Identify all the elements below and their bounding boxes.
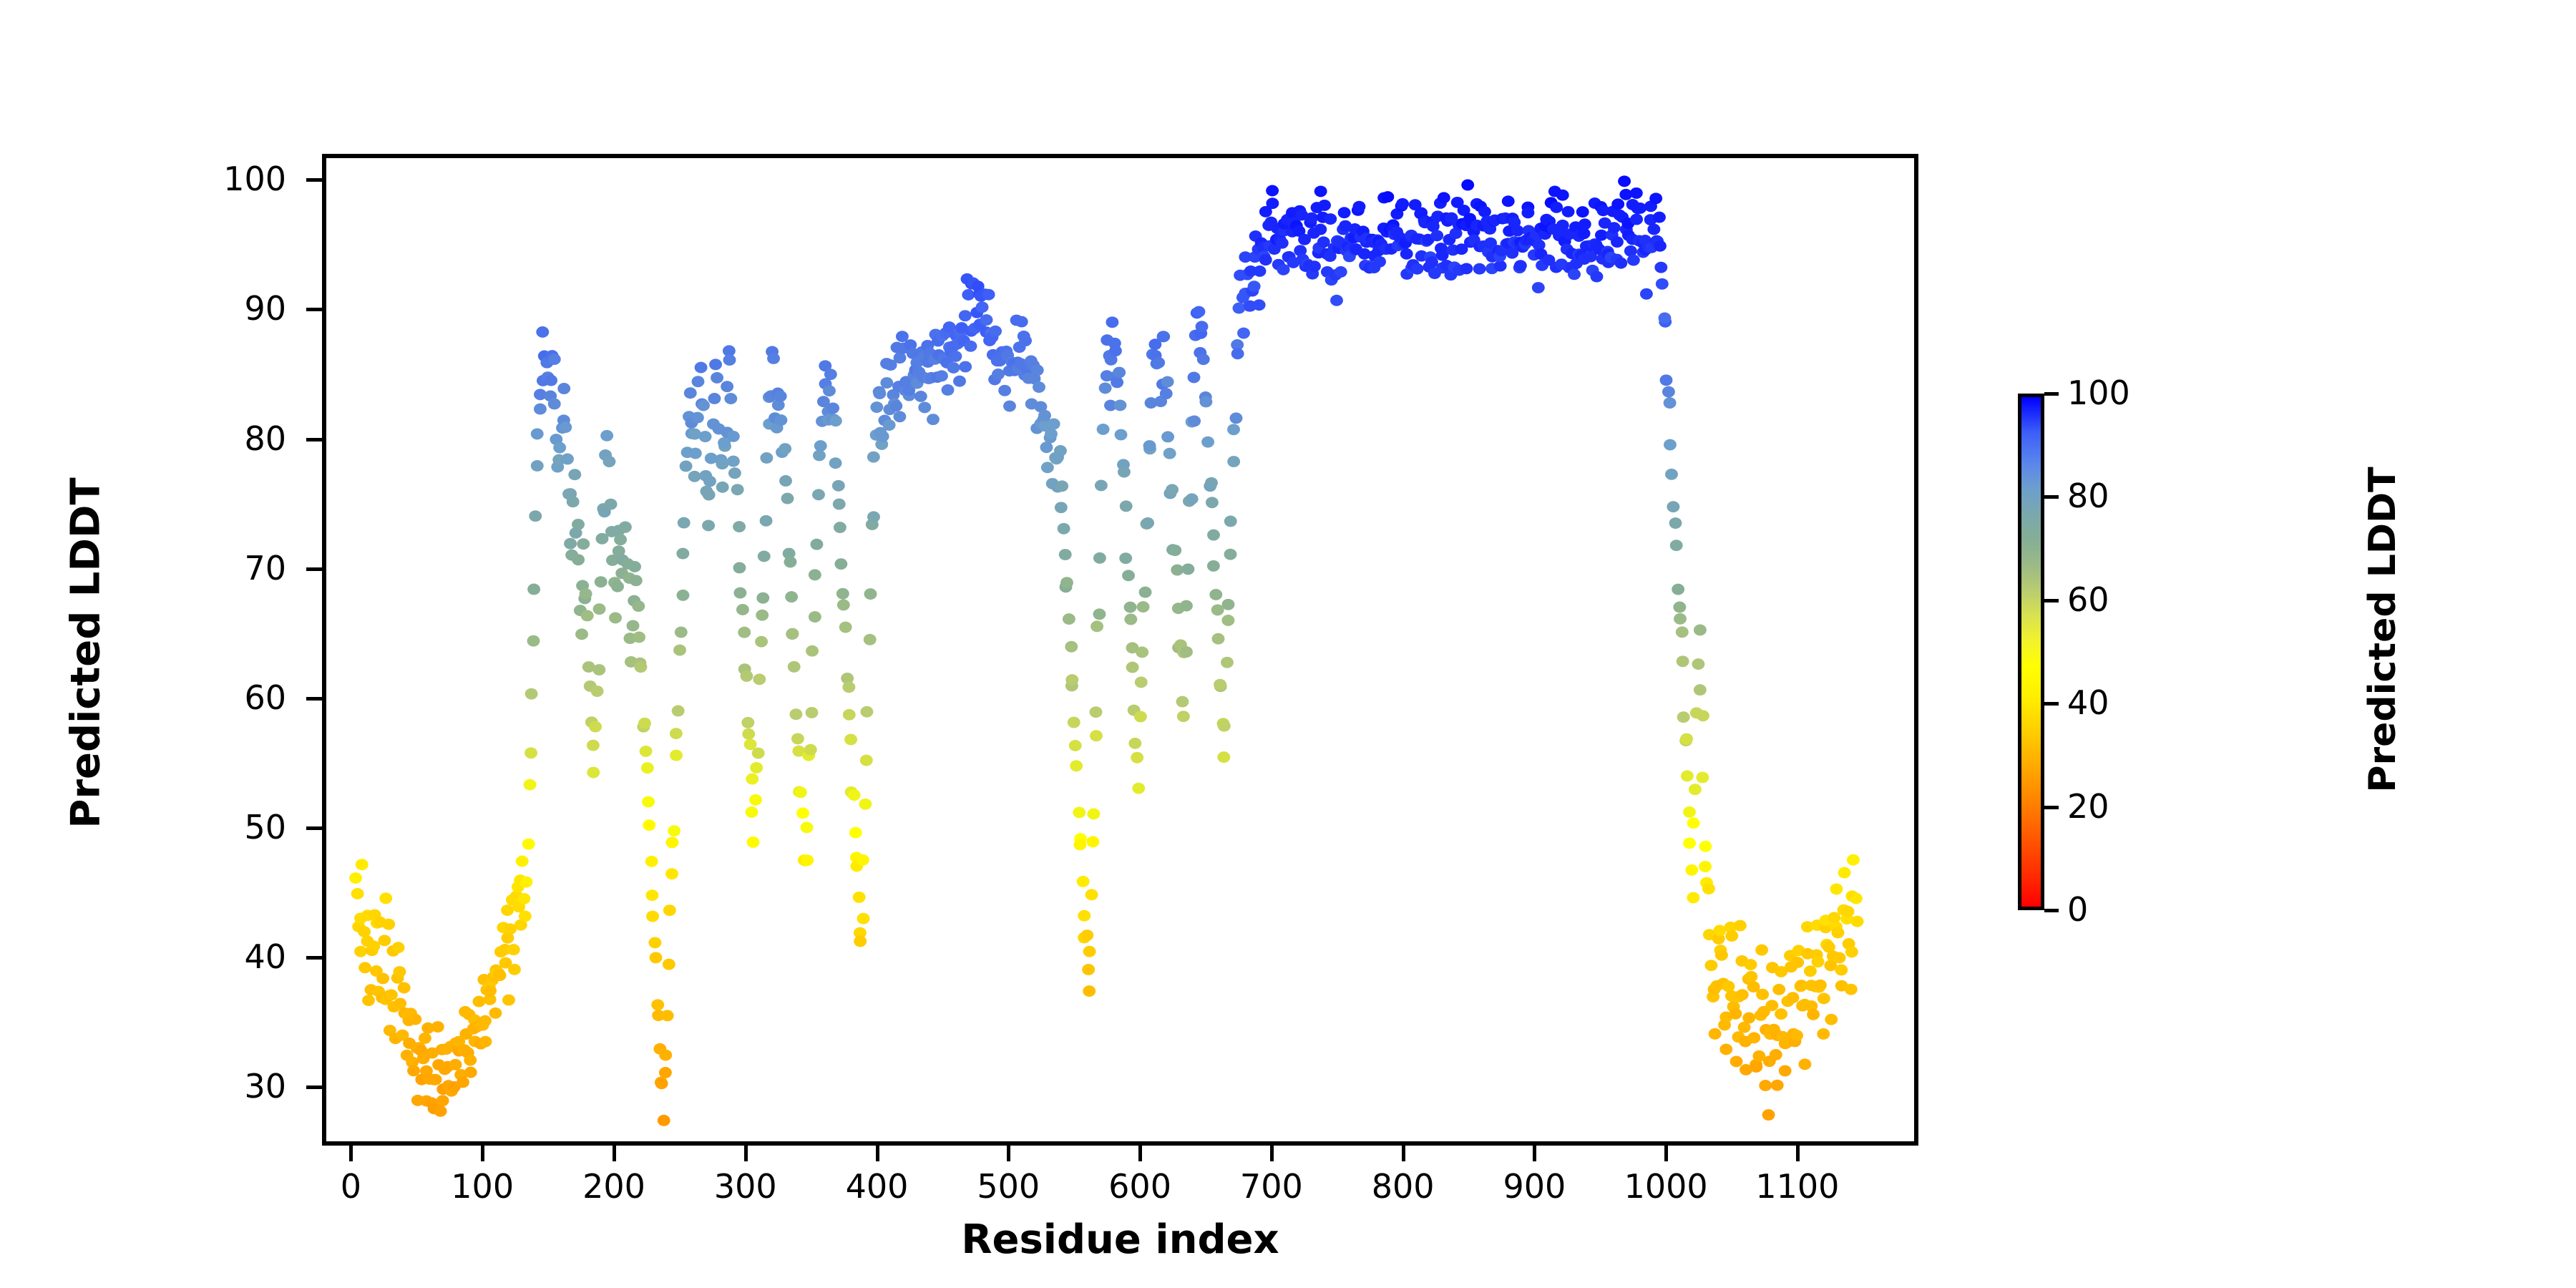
scatter-point — [1180, 646, 1193, 658]
scatter-point — [1775, 1008, 1787, 1020]
scatter-point — [1722, 981, 1735, 992]
scatter-point — [753, 673, 766, 685]
scatter-point — [1772, 984, 1785, 995]
scatter-point — [592, 664, 605, 675]
scatter-point — [810, 539, 823, 550]
scatter-point — [501, 904, 514, 916]
scatter-point — [1188, 415, 1201, 426]
scatter-point — [733, 587, 746, 599]
scatter-point — [796, 807, 809, 819]
scatter-point — [756, 610, 769, 621]
scatter-point — [1227, 456, 1240, 467]
scatter-point — [1231, 348, 1244, 359]
scatter-point — [1152, 357, 1165, 369]
scatter-point — [1817, 1028, 1830, 1040]
scatter-point — [733, 521, 746, 532]
scatter-point — [1353, 201, 1366, 213]
scatter-point — [1685, 864, 1698, 876]
scatter-point — [1090, 706, 1103, 718]
scatter-point — [1461, 180, 1474, 191]
scatter-point — [1230, 412, 1243, 424]
scatter-point — [947, 362, 960, 374]
scatter-point — [789, 708, 802, 720]
scatter-point — [1126, 662, 1139, 673]
scatter-point — [1120, 500, 1133, 512]
scatter-point — [1276, 238, 1289, 249]
scatter-point — [1222, 599, 1235, 610]
scatter-point — [1248, 280, 1261, 292]
scatter-point — [1729, 1008, 1742, 1020]
scatter-point — [1317, 236, 1330, 248]
scatter-point — [784, 556, 797, 567]
scatter-point — [814, 440, 827, 452]
colorbar-tick-label: 80 — [2067, 479, 2109, 512]
scatter-point — [354, 946, 367, 957]
scatter-point — [663, 904, 676, 916]
scatter-point — [1556, 190, 1569, 201]
scatter-point — [1160, 388, 1173, 399]
scatter-point — [527, 584, 540, 595]
scatter-point — [457, 1076, 469, 1088]
scatter-point — [857, 854, 869, 866]
scatter-point — [1478, 206, 1491, 218]
scatter-point — [1759, 1080, 1772, 1091]
scatter-point — [842, 681, 855, 693]
scatter-point — [1579, 218, 1591, 230]
colorbar-tick-mark — [2044, 702, 2059, 706]
scatter-point — [1131, 752, 1143, 763]
scatter-point — [864, 634, 877, 645]
scatter-point — [1719, 1044, 1732, 1055]
scatter-point — [794, 786, 807, 798]
scatter-point — [1845, 946, 1858, 957]
scatter-point — [1670, 540, 1683, 551]
scatter-point — [880, 377, 893, 389]
y-tick-label: 30 — [136, 1070, 286, 1103]
scatter-point — [1608, 222, 1621, 233]
scatter-point — [1521, 207, 1534, 218]
scatter-point — [1734, 920, 1747, 932]
scatter-point — [1511, 225, 1524, 237]
scatter-point — [531, 428, 544, 439]
scatter-point — [1804, 965, 1817, 977]
scatter-point — [591, 686, 604, 697]
scatter-point — [663, 959, 675, 970]
scatter-point — [982, 289, 995, 301]
scatter-point — [479, 1015, 492, 1027]
scatter-point — [824, 369, 837, 380]
scatter-point — [593, 603, 606, 615]
scatter-point — [548, 353, 561, 365]
colorbar-tick-label: 100 — [2067, 376, 2130, 409]
scatter-point — [516, 856, 529, 867]
scatter-point — [1083, 985, 1096, 997]
scatter-point — [1338, 207, 1351, 218]
scatter-point — [758, 551, 771, 562]
scatter-point — [823, 385, 836, 396]
scatter-point — [755, 636, 768, 648]
scatter-point — [517, 893, 530, 904]
colorbar-tick-label: 40 — [2067, 686, 2109, 719]
x-tick-mark — [1007, 1146, 1010, 1161]
x-tick-mark — [1402, 1146, 1405, 1161]
scatter-point — [893, 411, 906, 422]
scatter-point — [1630, 214, 1643, 225]
scatter-point — [1676, 626, 1689, 638]
scatter-point — [678, 517, 691, 529]
scatter-point — [767, 353, 780, 364]
scatter-point — [699, 431, 712, 442]
scatter-point — [614, 534, 627, 545]
scatter-point — [1562, 206, 1575, 218]
scatter-point — [1070, 760, 1083, 771]
scatter-point — [564, 538, 577, 550]
scatter-point — [1630, 187, 1643, 199]
scatter-point — [774, 391, 787, 402]
scatter-point — [1113, 400, 1126, 411]
scatter-point — [1078, 910, 1091, 922]
scatter-point — [962, 289, 975, 301]
scatter-point — [1674, 613, 1687, 625]
scatter-point — [553, 442, 566, 454]
scatter-point — [1725, 930, 1738, 942]
scatter-point — [1702, 883, 1715, 894]
scatter-point — [736, 604, 749, 615]
scatter-point — [1750, 1061, 1762, 1073]
scatter-point — [1640, 288, 1653, 300]
scatter-point — [676, 548, 689, 560]
scatter-point — [746, 774, 758, 785]
scatter-point — [1083, 946, 1096, 957]
scatter-point — [788, 661, 801, 673]
scatter-point — [992, 369, 1005, 380]
scatter-point — [1065, 641, 1078, 653]
scatter-point — [1830, 883, 1843, 894]
y-tick-mark — [306, 567, 322, 571]
y-tick-label: 100 — [136, 162, 286, 195]
scatter-point — [650, 952, 663, 963]
scatter-point — [559, 421, 572, 433]
scatter-point — [1214, 679, 1226, 691]
scatter-point — [867, 452, 880, 463]
scatter-point — [826, 402, 839, 414]
scatter-point — [1040, 441, 1053, 453]
scatter-point — [684, 387, 697, 399]
scatter-point — [809, 569, 821, 580]
scatter-point — [1090, 730, 1103, 741]
scatter-point — [1687, 892, 1699, 904]
scatter-point — [833, 499, 846, 510]
colorbar-tick-mark — [2044, 495, 2059, 499]
scatter-point — [1689, 784, 1702, 795]
scatter-point — [702, 519, 715, 531]
scatter-point — [1851, 916, 1864, 927]
scatter-point — [1697, 710, 1709, 721]
scatter-point — [804, 744, 817, 756]
scatter-point — [1568, 268, 1581, 280]
scatter-point — [1186, 493, 1199, 504]
scatter-point — [1699, 861, 1712, 872]
scatter-point — [1438, 192, 1450, 203]
scatter-point — [508, 964, 521, 975]
scatter-point — [1798, 1058, 1811, 1070]
scatter-point — [834, 522, 847, 533]
scatter-point — [1137, 601, 1150, 613]
scatter-point — [786, 628, 799, 640]
scatter-point — [661, 1010, 674, 1021]
scatter-point — [472, 996, 485, 1008]
scatter-point — [1660, 374, 1673, 386]
scatter-point — [1095, 480, 1108, 492]
scatter-point — [575, 628, 588, 640]
y-tick-mark — [306, 178, 322, 182]
scatter-point — [760, 452, 773, 464]
scatter-point — [1166, 484, 1179, 495]
scatter-point — [760, 515, 773, 527]
scatter-point — [949, 351, 962, 362]
scatter-point — [1765, 1000, 1778, 1011]
scatter-point — [1031, 364, 1044, 376]
x-tick-mark — [1533, 1146, 1536, 1161]
scatter-point — [589, 721, 602, 733]
scatter-point — [914, 391, 927, 402]
colorbar-label: Predicted LDDT — [2361, 358, 2404, 902]
scatter-point — [1163, 448, 1176, 459]
scatter-point — [531, 460, 544, 472]
scatter-point — [864, 588, 877, 600]
scatter-point — [959, 310, 972, 321]
scatter-point — [379, 892, 392, 904]
scatter-point — [1514, 260, 1527, 271]
scatter-point — [1055, 502, 1068, 513]
scatter-point — [1618, 175, 1631, 187]
scatter-point — [1664, 439, 1677, 451]
scatter-point — [1314, 224, 1327, 235]
scatter-point — [747, 836, 760, 848]
scatter-point — [1038, 410, 1051, 421]
scatter-point — [1143, 440, 1156, 452]
scatter-point — [1845, 984, 1858, 995]
scatter-point — [834, 558, 847, 570]
scatter-point — [568, 469, 581, 480]
scatter-point — [1532, 282, 1545, 293]
scatter-point — [1254, 265, 1267, 277]
scatter-point — [1649, 192, 1662, 204]
scatter-point — [651, 999, 664, 1010]
scatter-point — [697, 400, 710, 411]
scatter-point — [1093, 552, 1106, 564]
scatter-point — [989, 326, 1002, 337]
scatter-point — [1091, 620, 1103, 632]
scatter-point — [689, 448, 702, 459]
scatter-point — [1063, 613, 1075, 625]
scatter-point — [756, 592, 769, 604]
scatter-point — [1224, 516, 1237, 527]
scatter-point — [1770, 1049, 1782, 1060]
scatter-point — [1786, 992, 1799, 1003]
scatter-point — [749, 794, 762, 806]
colorbar-tick-label: 20 — [2067, 790, 2109, 823]
scatter-point — [1109, 345, 1122, 356]
scatter-point — [1080, 930, 1093, 941]
scatter-point — [848, 789, 861, 801]
scatter-point — [883, 419, 896, 431]
scatter-point — [813, 450, 826, 462]
scatter-point — [1048, 419, 1060, 430]
scatter-point — [407, 1065, 420, 1076]
scatter-point — [1611, 198, 1624, 210]
scatter-point — [1704, 960, 1717, 971]
scatter-point — [642, 796, 655, 808]
colorbar-tick-mark — [2044, 599, 2059, 602]
x-tick-mark — [481, 1146, 484, 1161]
scatter-point — [1068, 717, 1080, 728]
scatter-point — [581, 610, 594, 622]
scatter-point — [1237, 328, 1250, 339]
scatter-point — [1192, 306, 1205, 318]
scatter-point — [1747, 1032, 1760, 1043]
scatter-point — [628, 561, 641, 572]
y-tick-mark — [306, 308, 322, 311]
scatter-point — [746, 806, 758, 818]
scatter-point — [781, 493, 794, 504]
scatter-point — [727, 456, 740, 467]
scatter-point — [894, 352, 907, 364]
scatter-point — [1659, 313, 1672, 324]
y-tick-label: 80 — [136, 422, 286, 455]
scatter-point — [1196, 321, 1209, 332]
scatter-point — [1694, 684, 1707, 696]
scatter-point — [507, 944, 520, 955]
scatter-point — [1687, 817, 1700, 829]
scatter-point — [1654, 262, 1667, 273]
scatter-point — [382, 919, 395, 930]
scatter-point — [502, 995, 515, 1006]
scatter-point — [529, 510, 542, 522]
y-tick-label: 90 — [136, 292, 286, 325]
scatter-point — [740, 670, 753, 682]
scatter-point — [1791, 957, 1804, 968]
scatter-point — [1134, 711, 1147, 723]
scatter-point — [638, 718, 651, 729]
scatter-point — [1099, 382, 1112, 394]
scatter-point — [1832, 927, 1845, 939]
scatter-point — [1065, 674, 1078, 686]
scatter-point — [1073, 807, 1085, 819]
scatter-point — [489, 1008, 502, 1019]
scatter-point — [645, 889, 658, 901]
scatter-point — [670, 750, 683, 761]
colorbar: 020406080100 Predicted LDDT — [2018, 394, 2519, 912]
scatter-point — [1692, 658, 1704, 670]
scatter-point — [376, 973, 389, 985]
scatter-point — [1736, 989, 1749, 1000]
scatter-point — [1835, 965, 1848, 976]
scatter-point — [572, 554, 585, 565]
x-tick-mark — [1138, 1146, 1142, 1161]
scatter-point — [721, 381, 733, 392]
scatter-point — [1169, 545, 1181, 556]
scatter-point — [1611, 236, 1624, 248]
scatter-point — [1045, 428, 1058, 439]
x-tick-mark — [744, 1146, 748, 1161]
scatter-point — [691, 412, 704, 424]
scatter-point — [1669, 517, 1682, 529]
scatter-point — [536, 326, 549, 338]
scatter-point — [587, 767, 600, 779]
scatter-point — [1677, 655, 1689, 667]
scatter-point — [1113, 367, 1126, 379]
scatter-point — [1176, 696, 1189, 708]
scatter-point — [1141, 517, 1154, 529]
scatter-point — [844, 734, 857, 746]
scatter-point — [965, 341, 977, 352]
scatter-point — [378, 935, 391, 946]
scatter-point — [843, 709, 856, 721]
scatter-point — [1673, 602, 1686, 613]
scatter-point — [409, 1014, 421, 1025]
x-axis-label: Residue index — [0, 1216, 2240, 1263]
scatter-point — [534, 404, 547, 415]
scatter-point — [728, 467, 741, 479]
scatter-point — [1713, 925, 1726, 937]
scatter-point — [1654, 240, 1667, 252]
scatter-point — [658, 1115, 670, 1126]
scatter-point — [727, 431, 740, 442]
scatter-point — [572, 519, 585, 530]
scatter-point — [859, 799, 872, 810]
scatter-point — [367, 940, 380, 952]
scatter-point — [733, 562, 746, 574]
y-tick-mark — [306, 438, 322, 441]
scatter-point — [1833, 952, 1846, 964]
scatter-point — [645, 856, 658, 867]
scatter-point — [860, 755, 873, 766]
scatter-point — [1205, 477, 1218, 489]
scatter-point — [676, 590, 689, 601]
scatter-point — [688, 471, 701, 482]
scatter-point — [600, 430, 613, 441]
x-tick-mark — [1664, 1146, 1668, 1161]
scatter-point — [1188, 371, 1201, 383]
x-tick-mark — [349, 1146, 353, 1161]
scatter-point — [640, 746, 653, 757]
scatter-point — [1033, 381, 1045, 393]
scatter-point — [1742, 1013, 1755, 1024]
scatter-point — [1060, 577, 1073, 588]
scatter-point — [980, 314, 993, 326]
scatter-point — [1069, 740, 1082, 751]
scatter-point — [1206, 497, 1219, 508]
scatter-point — [1181, 563, 1194, 575]
chart-figure: 30405060708090100 0100200300400500600700… — [0, 0, 2576, 1288]
scatter-point — [557, 383, 570, 394]
y-tick-label: 70 — [136, 552, 286, 585]
scatter-point — [1132, 783, 1145, 794]
scatter-point — [1201, 436, 1214, 448]
colorbar-tick-mark — [2044, 392, 2059, 396]
scatter-point — [1756, 989, 1769, 1000]
scatter-point — [809, 611, 821, 623]
colorbar-tick-label: 0 — [2067, 893, 2088, 926]
scatter-point — [1694, 625, 1707, 636]
scatter-point — [1814, 980, 1827, 991]
scatter-point — [854, 936, 867, 947]
scatter-point — [877, 431, 889, 442]
scatter-point — [434, 1106, 447, 1117]
scatter-point — [723, 354, 736, 366]
scatter-point — [659, 1050, 672, 1061]
